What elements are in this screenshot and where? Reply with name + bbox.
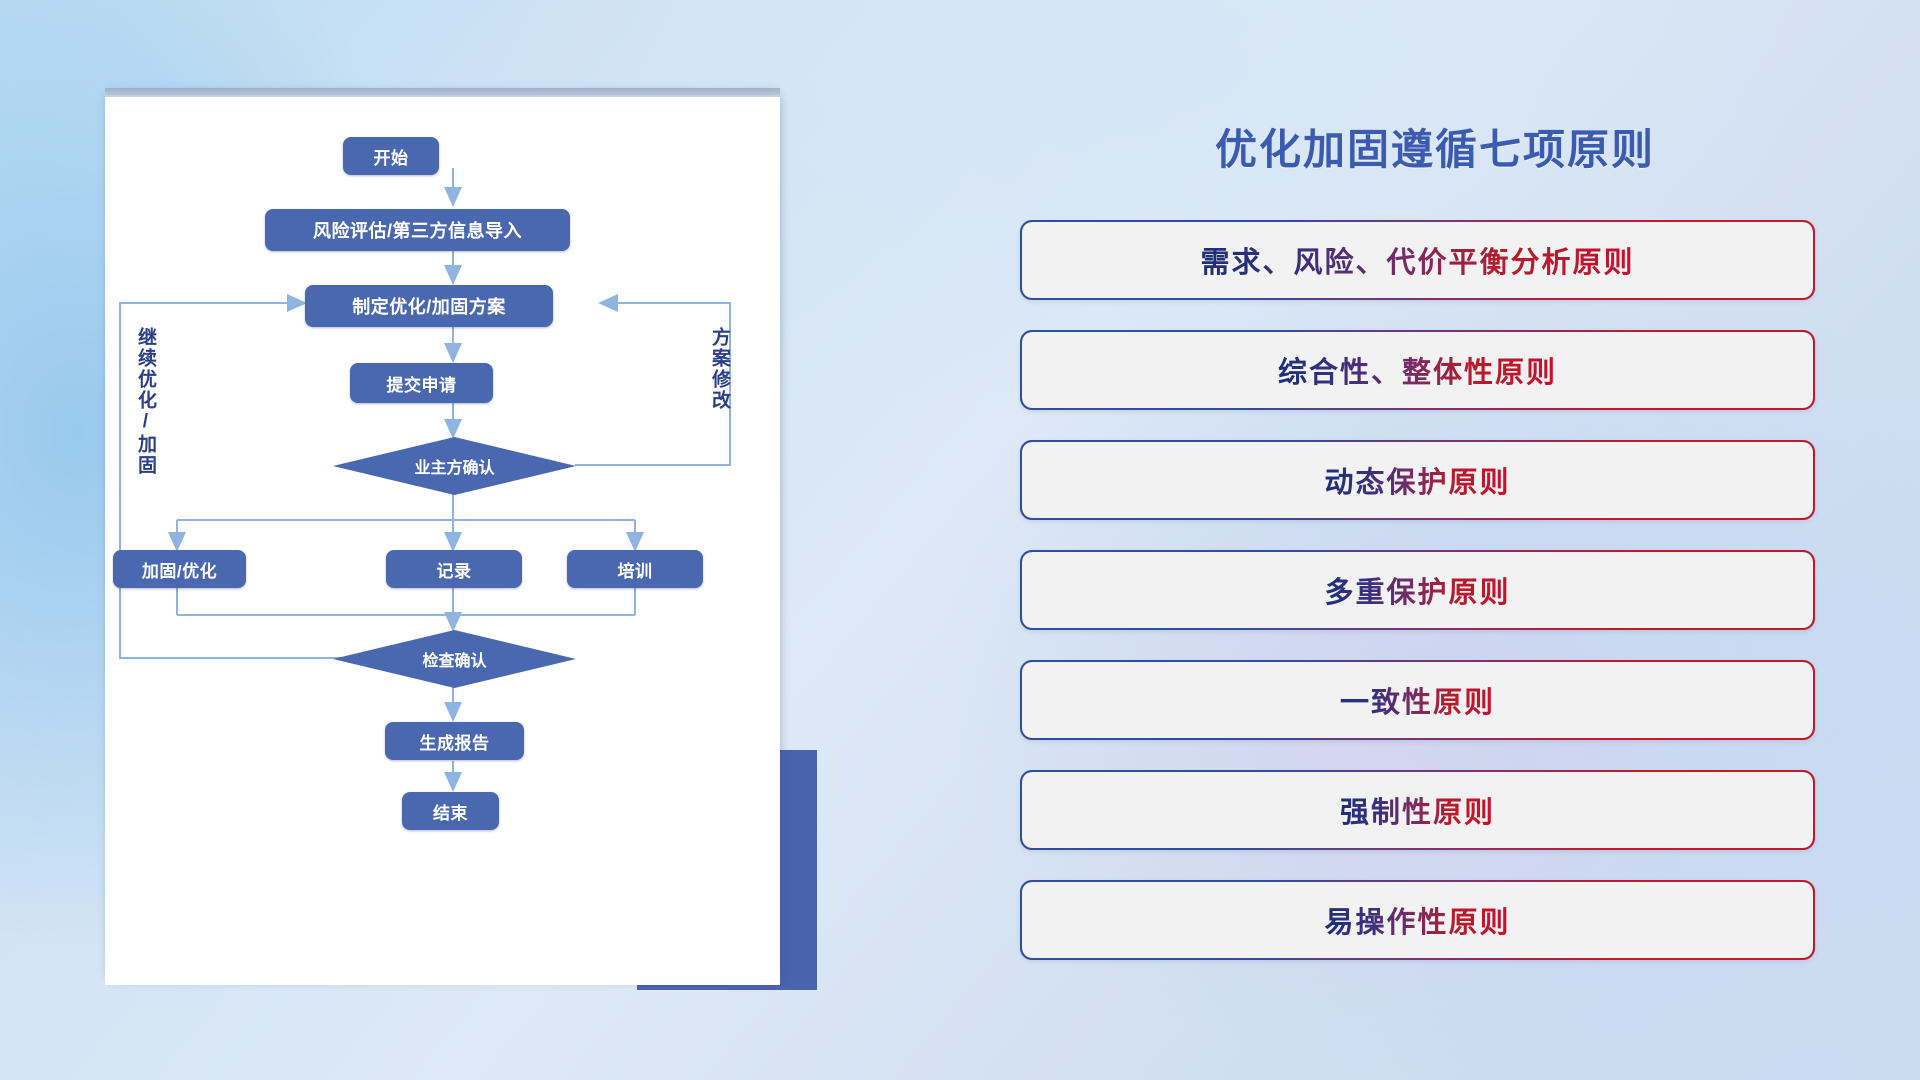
flowchart-card: 开始 风险评估/第三方信息导入 制定优化/加固方案 提交申请 业主方确认 加固/… <box>105 95 780 985</box>
slide-canvas: 开始 风险评估/第三方信息导入 制定优化/加固方案 提交申请 业主方确认 加固/… <box>0 0 1920 1080</box>
flow-node-record-label: 记录 <box>437 557 472 582</box>
flow-node-report[interactable]: 生成报告 <box>385 722 524 760</box>
flowchart: 开始 风险评估/第三方信息导入 制定优化/加固方案 提交申请 业主方确认 加固/… <box>105 95 780 985</box>
flow-node-check-confirm[interactable]: 检查确认 <box>333 630 576 688</box>
flow-edge-label-plan-revision: 方案修改 <box>709 327 729 411</box>
flow-node-end-label: 结束 <box>433 799 468 824</box>
principle-item[interactable]: 强制性原则 <box>1020 770 1815 850</box>
flow-node-risk-assessment-label: 风险评估/第三方信息导入 <box>313 217 522 243</box>
principle-item-label: 多重保护原则 <box>1324 569 1510 611</box>
flow-edge-label-continue-optimize: 继续优化/加固 <box>135 327 155 476</box>
flow-node-record[interactable]: 记录 <box>386 550 522 588</box>
flow-node-training[interactable]: 培训 <box>567 550 703 588</box>
flow-node-submit-label: 提交申请 <box>387 371 457 396</box>
flow-node-plan[interactable]: 制定优化/加固方案 <box>305 285 553 327</box>
principle-item-label: 动态保护原则 <box>1324 459 1510 501</box>
card-top-shadow-bar <box>105 88 780 97</box>
flow-node-training-label: 培训 <box>618 557 653 582</box>
principle-item-label: 综合性、整体性原则 <box>1278 349 1557 391</box>
principle-item-label: 需求、风险、代价平衡分析原则 <box>1200 239 1634 281</box>
principle-item[interactable]: 一致性原则 <box>1020 660 1815 740</box>
flow-node-reinforce-label: 加固/优化 <box>142 557 217 582</box>
principle-item-label: 强制性原则 <box>1340 789 1495 831</box>
principle-item[interactable]: 多重保护原则 <box>1020 550 1815 630</box>
flow-node-check-confirm-label: 检查确认 <box>422 647 486 671</box>
flow-node-reinforce[interactable]: 加固/优化 <box>113 550 246 588</box>
flow-node-report-label: 生成报告 <box>420 729 490 754</box>
principle-item[interactable]: 需求、风险、代价平衡分析原则 <box>1020 220 1815 300</box>
principle-item-label: 易操作性原则 <box>1324 899 1510 941</box>
principles-panel: 优化加固遵循七项原则 需求、风险、代价平衡分析原则 综合性、整体性原则 动态保护… <box>1020 100 1840 1020</box>
principles-list: 需求、风险、代价平衡分析原则 综合性、整体性原则 动态保护原则 多重保护原则 一… <box>1020 220 1840 990</box>
principle-item-label: 一致性原则 <box>1340 679 1495 721</box>
principle-item[interactable]: 易操作性原则 <box>1020 880 1815 960</box>
flow-node-start[interactable]: 开始 <box>343 137 439 175</box>
flow-node-owner-confirm[interactable]: 业主方确认 <box>333 437 576 495</box>
flow-node-end[interactable]: 结束 <box>402 792 499 830</box>
panel-title: 优化加固遵循七项原则 <box>1155 116 1715 177</box>
principle-item[interactable]: 动态保护原则 <box>1020 440 1815 520</box>
flow-node-owner-confirm-label: 业主方确认 <box>414 454 494 478</box>
flow-node-plan-label: 制定优化/加固方案 <box>352 293 506 319</box>
principle-item[interactable]: 综合性、整体性原则 <box>1020 330 1815 410</box>
flow-node-risk-assessment[interactable]: 风险评估/第三方信息导入 <box>265 209 570 251</box>
flow-node-start-label: 开始 <box>374 144 409 169</box>
flow-node-submit[interactable]: 提交申请 <box>350 363 493 403</box>
